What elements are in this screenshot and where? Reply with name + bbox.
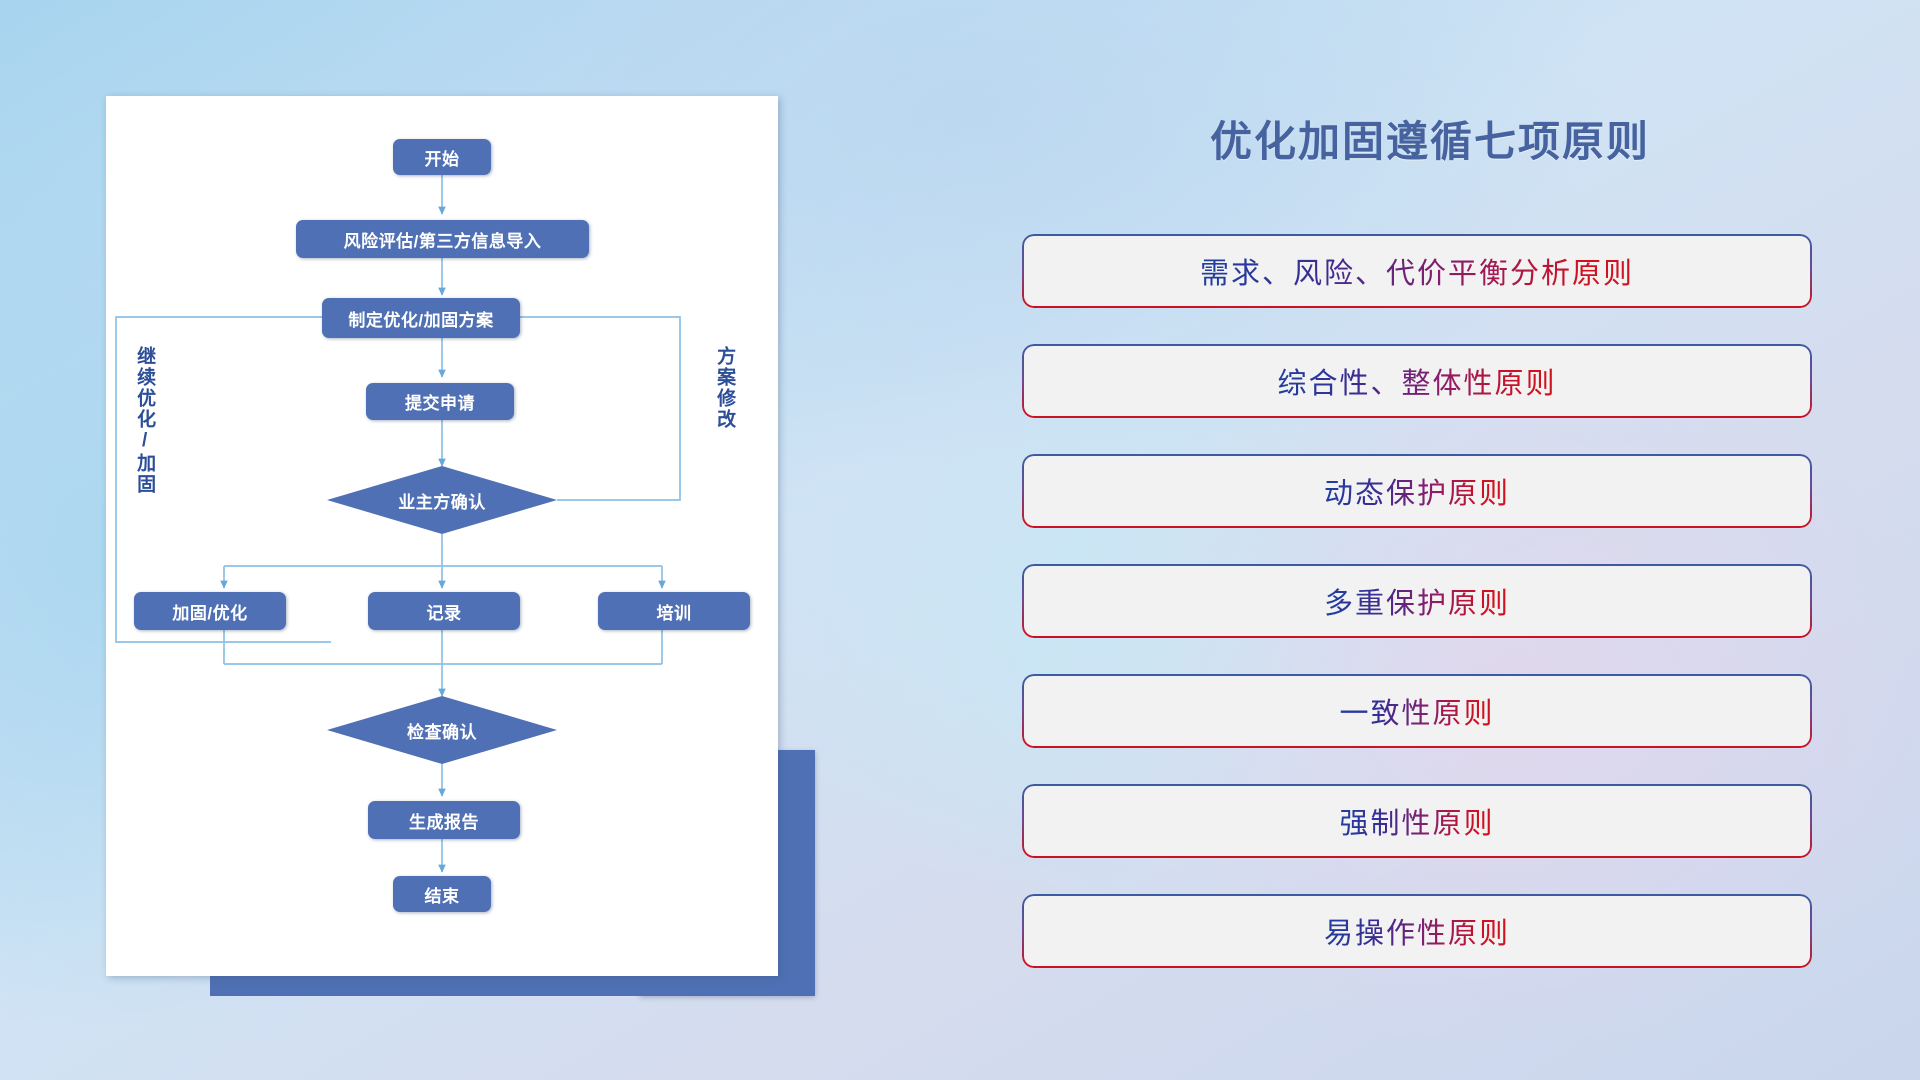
flow-node-risk-assessment-label: 风险评估/第三方信息导入 [344, 227, 542, 252]
flow-node-training[interactable]: 培训 [598, 592, 750, 630]
flow-edge-label-plan-revision: 方案修改 [714, 346, 734, 430]
flow-node-make-plan-label: 制定优化/加固方案 [348, 306, 493, 331]
flow-node-submit-application[interactable]: 提交申请 [366, 383, 514, 420]
flow-node-start-label: 开始 [425, 145, 460, 170]
principles-list: 需求、风险、代价平衡分析原则 综合性、整体性原则 动态保护原则 多重保护原则 一… [1022, 234, 1812, 1004]
flow-node-end-label: 结束 [425, 882, 460, 907]
flow-node-generate-report[interactable]: 生成报告 [368, 801, 520, 839]
flow-decision-owner-confirm-label: 业主方确认 [327, 466, 557, 534]
principle-item[interactable]: 易操作性原则 [1022, 894, 1812, 968]
principle-label: 动态保护原则 [1324, 470, 1510, 512]
flow-decision-owner-confirm[interactable]: 业主方确认 [327, 466, 557, 534]
flow-node-start[interactable]: 开始 [393, 139, 491, 175]
principle-label: 多重保护原则 [1324, 580, 1510, 622]
flow-node-generate-report-label: 生成报告 [409, 808, 479, 833]
flow-decision-check-confirm-label: 检查确认 [327, 696, 557, 764]
principle-label: 需求、风险、代价平衡分析原则 [1200, 250, 1634, 292]
principle-label: 综合性、整体性原则 [1277, 360, 1556, 402]
principle-item[interactable]: 一致性原则 [1022, 674, 1812, 748]
page-title: 优化加固遵循七项原则 [1030, 108, 1830, 169]
principle-item[interactable]: 综合性、整体性原则 [1022, 344, 1812, 418]
flow-node-submit-application-label: 提交申请 [405, 389, 475, 414]
principle-label: 强制性原则 [1339, 800, 1494, 842]
flow-node-reinforce-optimize-label: 加固/优化 [172, 599, 247, 624]
principle-label: 一致性原则 [1339, 690, 1494, 732]
flow-node-training-label: 培训 [657, 599, 692, 624]
flow-decision-check-confirm[interactable]: 检查确认 [327, 696, 557, 764]
slide-canvas: 开始 风险评估/第三方信息导入 制定优化/加固方案 提交申请 业主方确认 加固/… [0, 0, 1920, 1080]
flow-node-record-label: 记录 [427, 599, 462, 624]
flow-node-reinforce-optimize[interactable]: 加固/优化 [134, 592, 286, 630]
principle-item[interactable]: 多重保护原则 [1022, 564, 1812, 638]
principle-item[interactable]: 动态保护原则 [1022, 454, 1812, 528]
flow-node-record[interactable]: 记录 [368, 592, 520, 630]
principle-item[interactable]: 需求、风险、代价平衡分析原则 [1022, 234, 1812, 308]
flow-node-risk-assessment[interactable]: 风险评估/第三方信息导入 [296, 220, 589, 258]
principle-item[interactable]: 强制性原则 [1022, 784, 1812, 858]
flow-node-make-plan[interactable]: 制定优化/加固方案 [322, 298, 520, 338]
flowchart-card: 开始 风险评估/第三方信息导入 制定优化/加固方案 提交申请 业主方确认 加固/… [106, 96, 778, 976]
flow-node-end[interactable]: 结束 [393, 876, 491, 912]
principle-label: 易操作性原则 [1324, 910, 1510, 952]
flow-edge-label-continue-optimize: 继续优化/加固 [134, 346, 154, 495]
